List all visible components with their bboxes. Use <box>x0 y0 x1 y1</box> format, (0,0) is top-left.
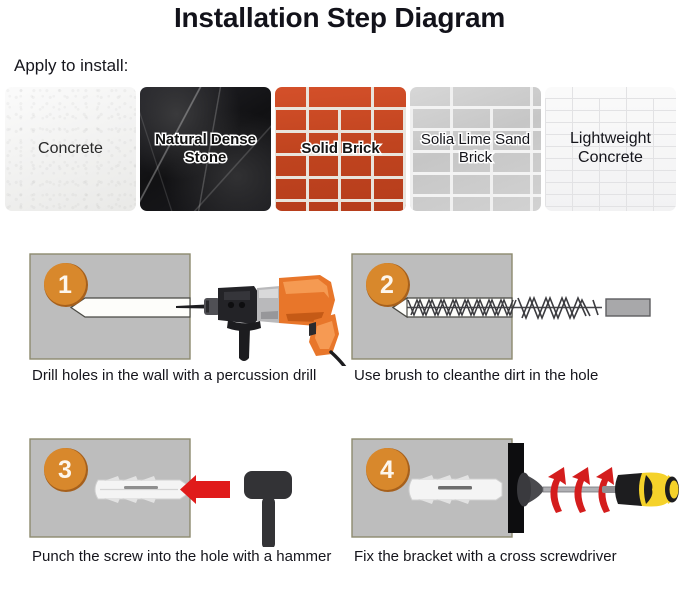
step-1-illustration: 1 <box>28 248 358 366</box>
percussion-drill-icon <box>176 275 348 366</box>
step-3: 3 Punch the screw into the hole with a h… <box>28 435 358 600</box>
step-number: 3 <box>58 456 72 484</box>
step-1-caption: Drill holes in the wall with a percussio… <box>32 366 358 387</box>
step-number: 2 <box>380 271 394 299</box>
screw-head-icon <box>517 473 544 507</box>
step-4-caption: Fix the bracket with a cross screwdriver <box>354 547 679 568</box>
step-2-illustration: 2 <box>350 248 679 366</box>
drill-hole <box>71 298 190 317</box>
material-swatch-concrete: Concrete <box>5 87 136 211</box>
step-2: 2 Use brush to cleanthe dirt in the hole <box>350 248 679 413</box>
step-3-illustration: 3 <box>28 435 358 553</box>
step-2-caption: Use brush to cleanthe dirt in the hole <box>354 366 679 387</box>
material-label: Concrete <box>34 140 107 159</box>
material-swatch-row: Concrete Natural Dense Stone Solid Brick… <box>5 87 677 211</box>
material-swatch-natural-stone: Natural Dense Stone <box>140 87 271 211</box>
material-label: Solid Brick <box>297 140 383 158</box>
wall-anchor-icon <box>95 476 186 503</box>
step-number: 1 <box>58 271 72 299</box>
material-label: Solia Lime Sand Brick <box>410 131 541 166</box>
brush-handle <box>606 299 650 316</box>
apply-to-install-label: Apply to install: <box>14 56 128 76</box>
material-swatch-lime-sand-brick: Solia Lime Sand Brick <box>410 87 541 211</box>
hammer-icon <box>244 471 292 547</box>
material-swatch-solid-brick: Solid Brick <box>275 87 406 211</box>
page-title: Installation Step Diagram <box>0 2 679 34</box>
material-swatch-lightweight-concrete: Lightweight Concrete <box>545 87 676 211</box>
step-number: 4 <box>380 456 394 484</box>
step-3-caption: Punch the screw into the hole with a ham… <box>32 547 358 568</box>
cross-screwdriver-icon <box>602 473 679 507</box>
step-4-illustration: 4 <box>350 435 679 553</box>
material-label: Natural Dense Stone <box>140 131 271 166</box>
material-label: Lightweight Concrete <box>545 130 676 168</box>
wall-anchor-icon <box>409 475 502 504</box>
step-1: 1 <box>28 248 358 413</box>
step-4: 4 Fix the bracket with a cross screwdriv… <box>350 435 679 600</box>
